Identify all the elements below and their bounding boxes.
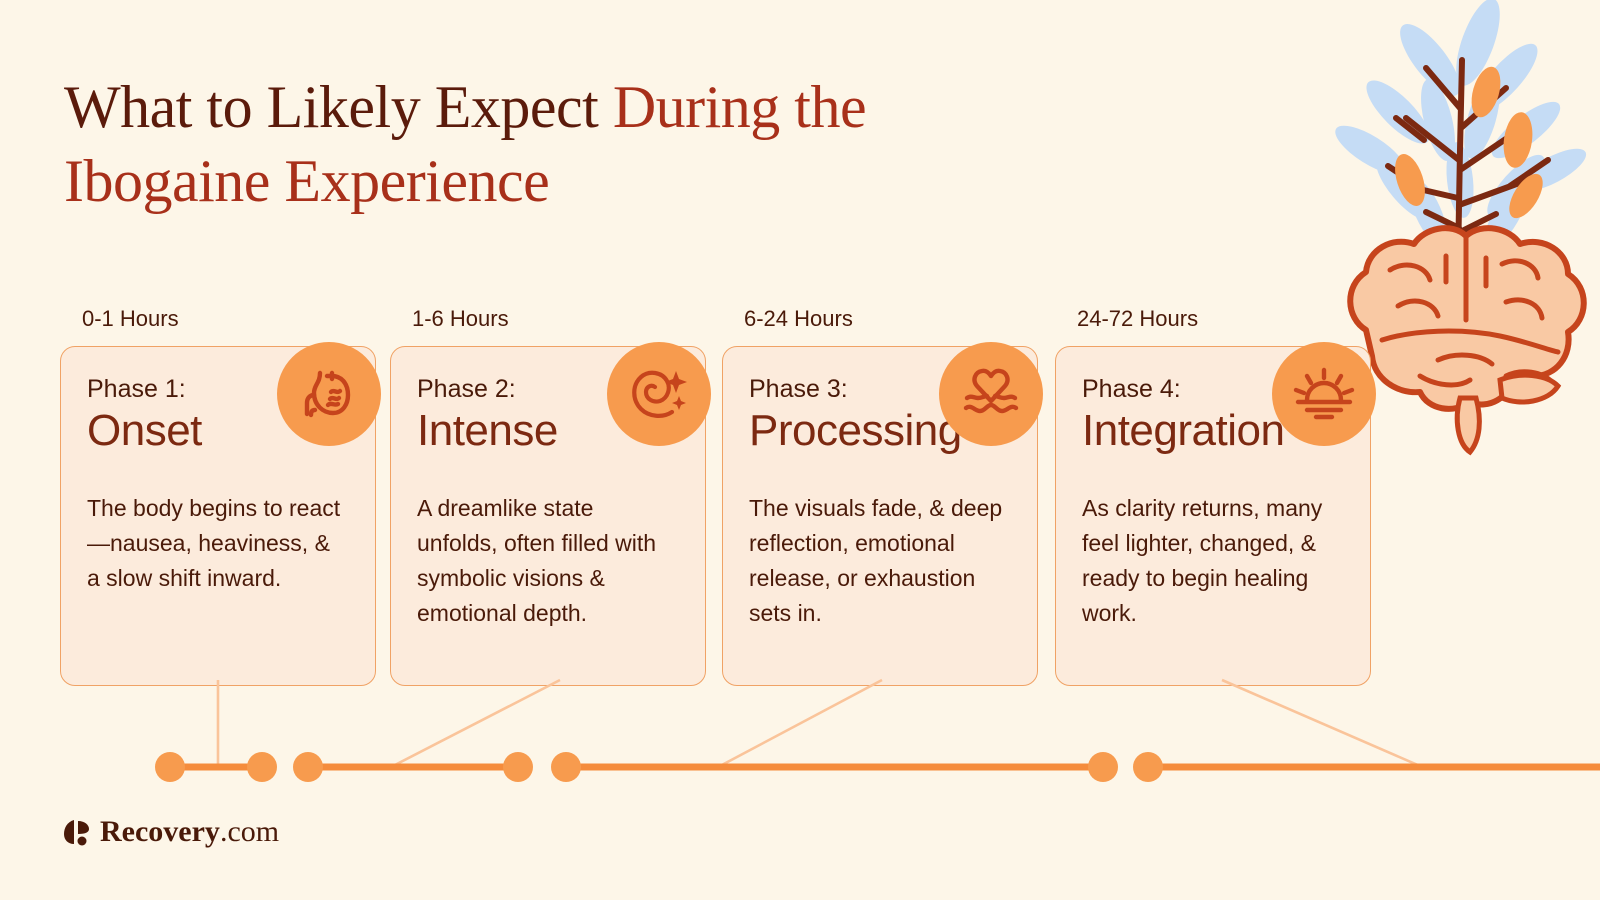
logo-wordmark: Recovery.com	[100, 815, 279, 849]
hours-label-4: 24-72 Hours	[1077, 300, 1371, 346]
hours-label-3: 6-24 Hours	[744, 300, 1038, 346]
timeline-dot	[247, 752, 277, 782]
logo-suffix: .com	[220, 815, 279, 848]
hours-label-1: 0-1 Hours	[82, 300, 376, 346]
title-part-dark: What to Likely Expect	[64, 74, 613, 140]
logo-brand: Recovery	[100, 815, 220, 848]
stomach-icon	[277, 342, 381, 446]
timeline-dot	[551, 752, 581, 782]
timeline-dot	[293, 752, 323, 782]
title-part-red: During the	[613, 74, 866, 140]
phase-description-1: The body begins to react—nausea, heavine…	[87, 491, 349, 596]
page-title: What to Likely Expect During the Ibogain…	[64, 70, 1084, 219]
hours-label-2: 1-6 Hours	[412, 300, 706, 346]
timeline	[0, 620, 1600, 820]
recovery-logo[interactable]: Recovery.com	[64, 815, 279, 849]
timeline-dot	[1088, 752, 1118, 782]
phase-description-2: A dreamlike state unfolds, often filled …	[417, 491, 679, 631]
spiral-sparkle-icon	[607, 342, 711, 446]
timeline-dot	[503, 752, 533, 782]
leaf-mark-icon	[64, 818, 90, 846]
title-line-2: Ibogaine Experience	[64, 144, 1084, 218]
heart-waves-icon	[939, 342, 1043, 446]
timeline-connectors	[218, 680, 1420, 766]
sunrise-icon	[1272, 342, 1376, 446]
phase-description-4: As clarity returns, many feel lighter, c…	[1082, 491, 1344, 631]
timeline-dot	[155, 752, 185, 782]
phase-description-3: The visuals fade, & deep reflection, emo…	[749, 491, 1011, 631]
timeline-dot	[1133, 752, 1163, 782]
title-line-1: What to Likely Expect During the	[64, 70, 1084, 144]
